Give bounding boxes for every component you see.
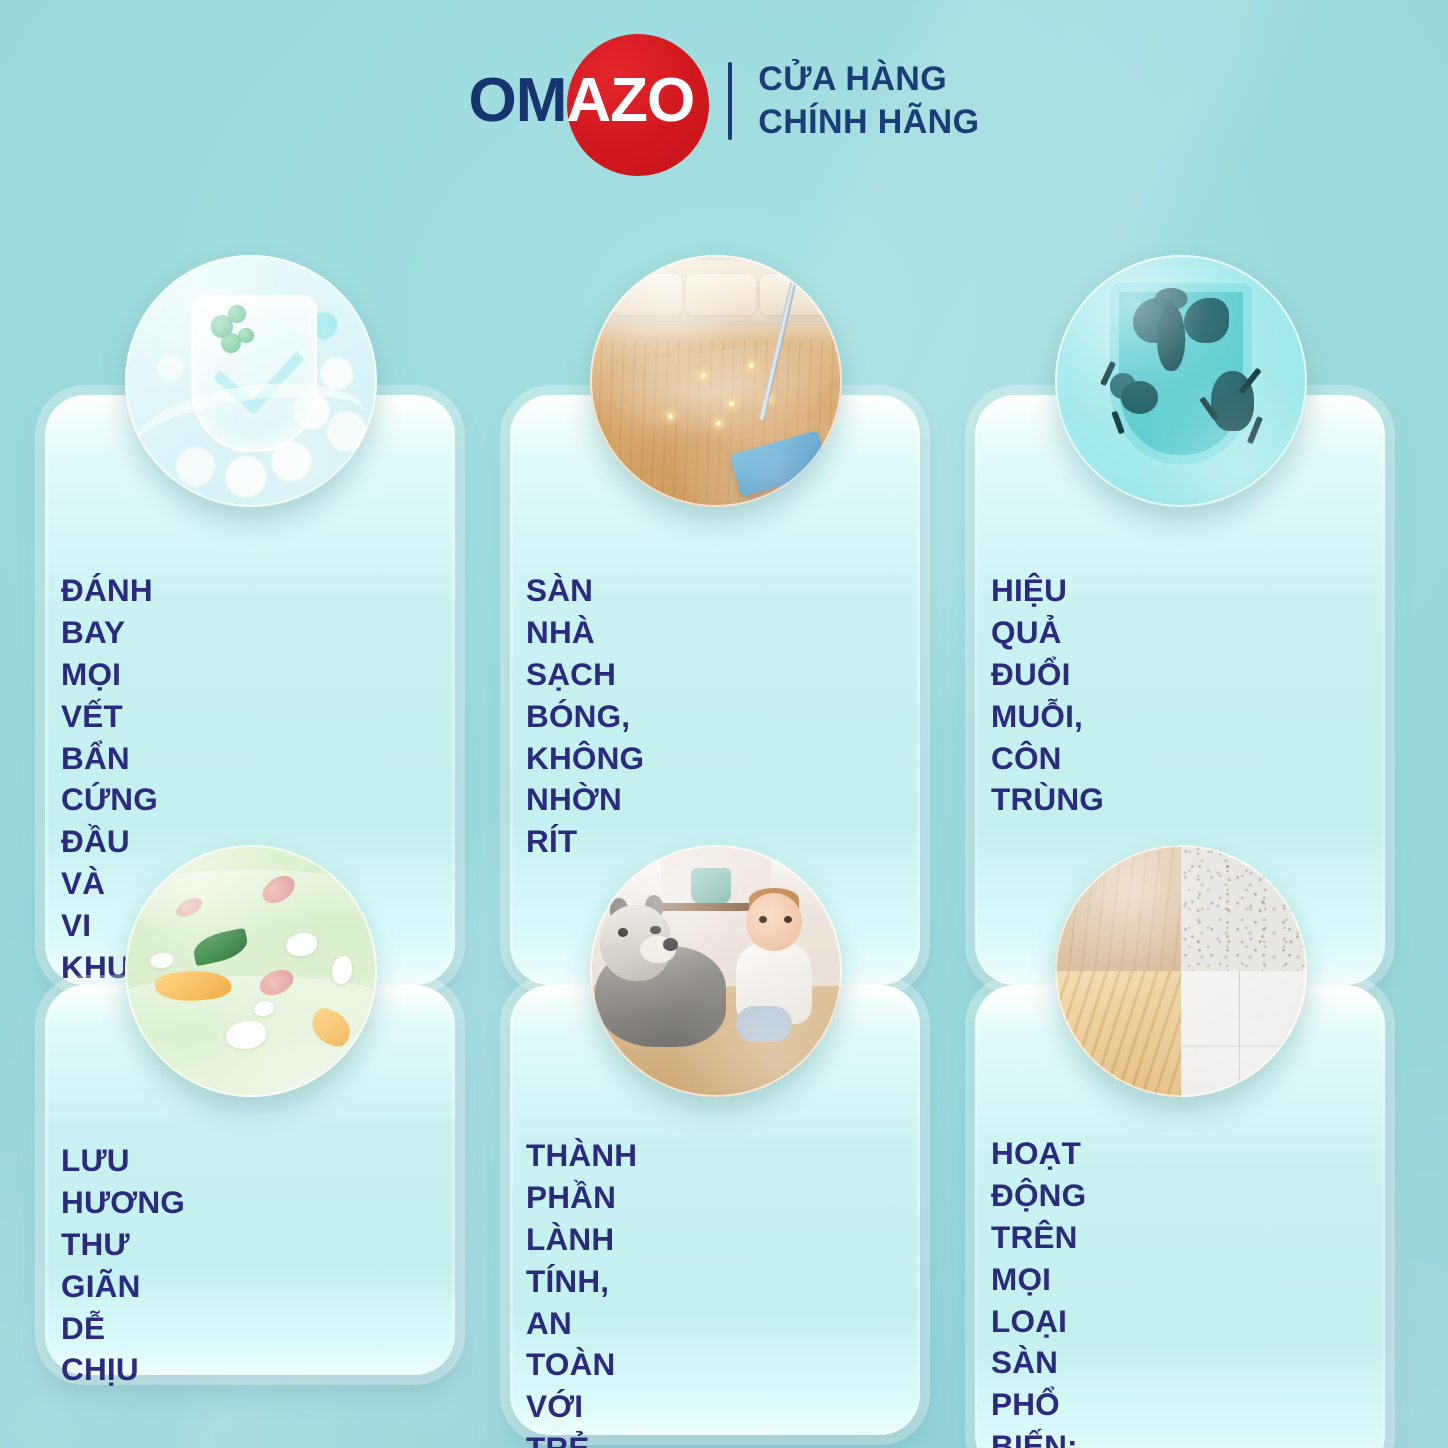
tagline-line-2: CHÍNH HÃNG xyxy=(758,101,979,144)
logo-divider xyxy=(728,62,732,140)
feature-label: SÀN NHÀ SẠCH BÓNG, KHÔNG NHỜN RÍT xyxy=(510,570,542,863)
feature-label: ĐÁNH BAY MỌI VẾT BẨN CỨNG ĐẦU VÀ VI KHUẨ… xyxy=(45,570,77,989)
botanical-liquid-image xyxy=(125,845,377,1097)
tagline-line-1: CỬA HÀNG xyxy=(758,58,979,101)
mop-wooden-floor-image xyxy=(590,255,842,507)
logo-wordmark-part1: OM xyxy=(469,70,567,132)
floor-types-quadrant-image xyxy=(1055,845,1307,1097)
brand-tagline: CỬA HÀNG CHÍNH HÃNG xyxy=(758,58,979,144)
feature-grid: ĐÁNH BAY MỌI VẾT BẨN CỨNG ĐẦU VÀ VI KHUẨ… xyxy=(0,0,1448,1448)
promo-banner: OM AZO CỬA HÀNG CHÍNH HÃNG xyxy=(0,0,1448,1448)
logo-wordmark-part2: AZO xyxy=(566,70,694,132)
logo-wordmark: OM AZO xyxy=(469,70,695,132)
brand-header: OM AZO CỬA HÀNG CHÍNH HÃNG xyxy=(0,26,1448,176)
baby-and-dog-image xyxy=(590,845,842,1097)
feature-label: HOẠT ĐỘNG TRÊN MỌI LOẠI SÀN PHỔ BIẾN: SÀ… xyxy=(975,1133,1007,1448)
insect-shield-image xyxy=(1055,255,1307,507)
omazo-logo: OM AZO xyxy=(469,26,695,176)
shield-checkmark-bubbles-image xyxy=(125,255,377,507)
feature-label: HIỆU QUẢ ĐUỔI MUỖI, CÔN TRÙNG xyxy=(975,570,1007,821)
feature-label: LƯU HƯƠNG THƯ GIÃN DỄ CHỊU xyxy=(45,1140,77,1391)
feature-label: THÀNH PHẦN LÀNH TÍNH, AN TOÀN VỚI TRẺ NH… xyxy=(510,1135,542,1448)
